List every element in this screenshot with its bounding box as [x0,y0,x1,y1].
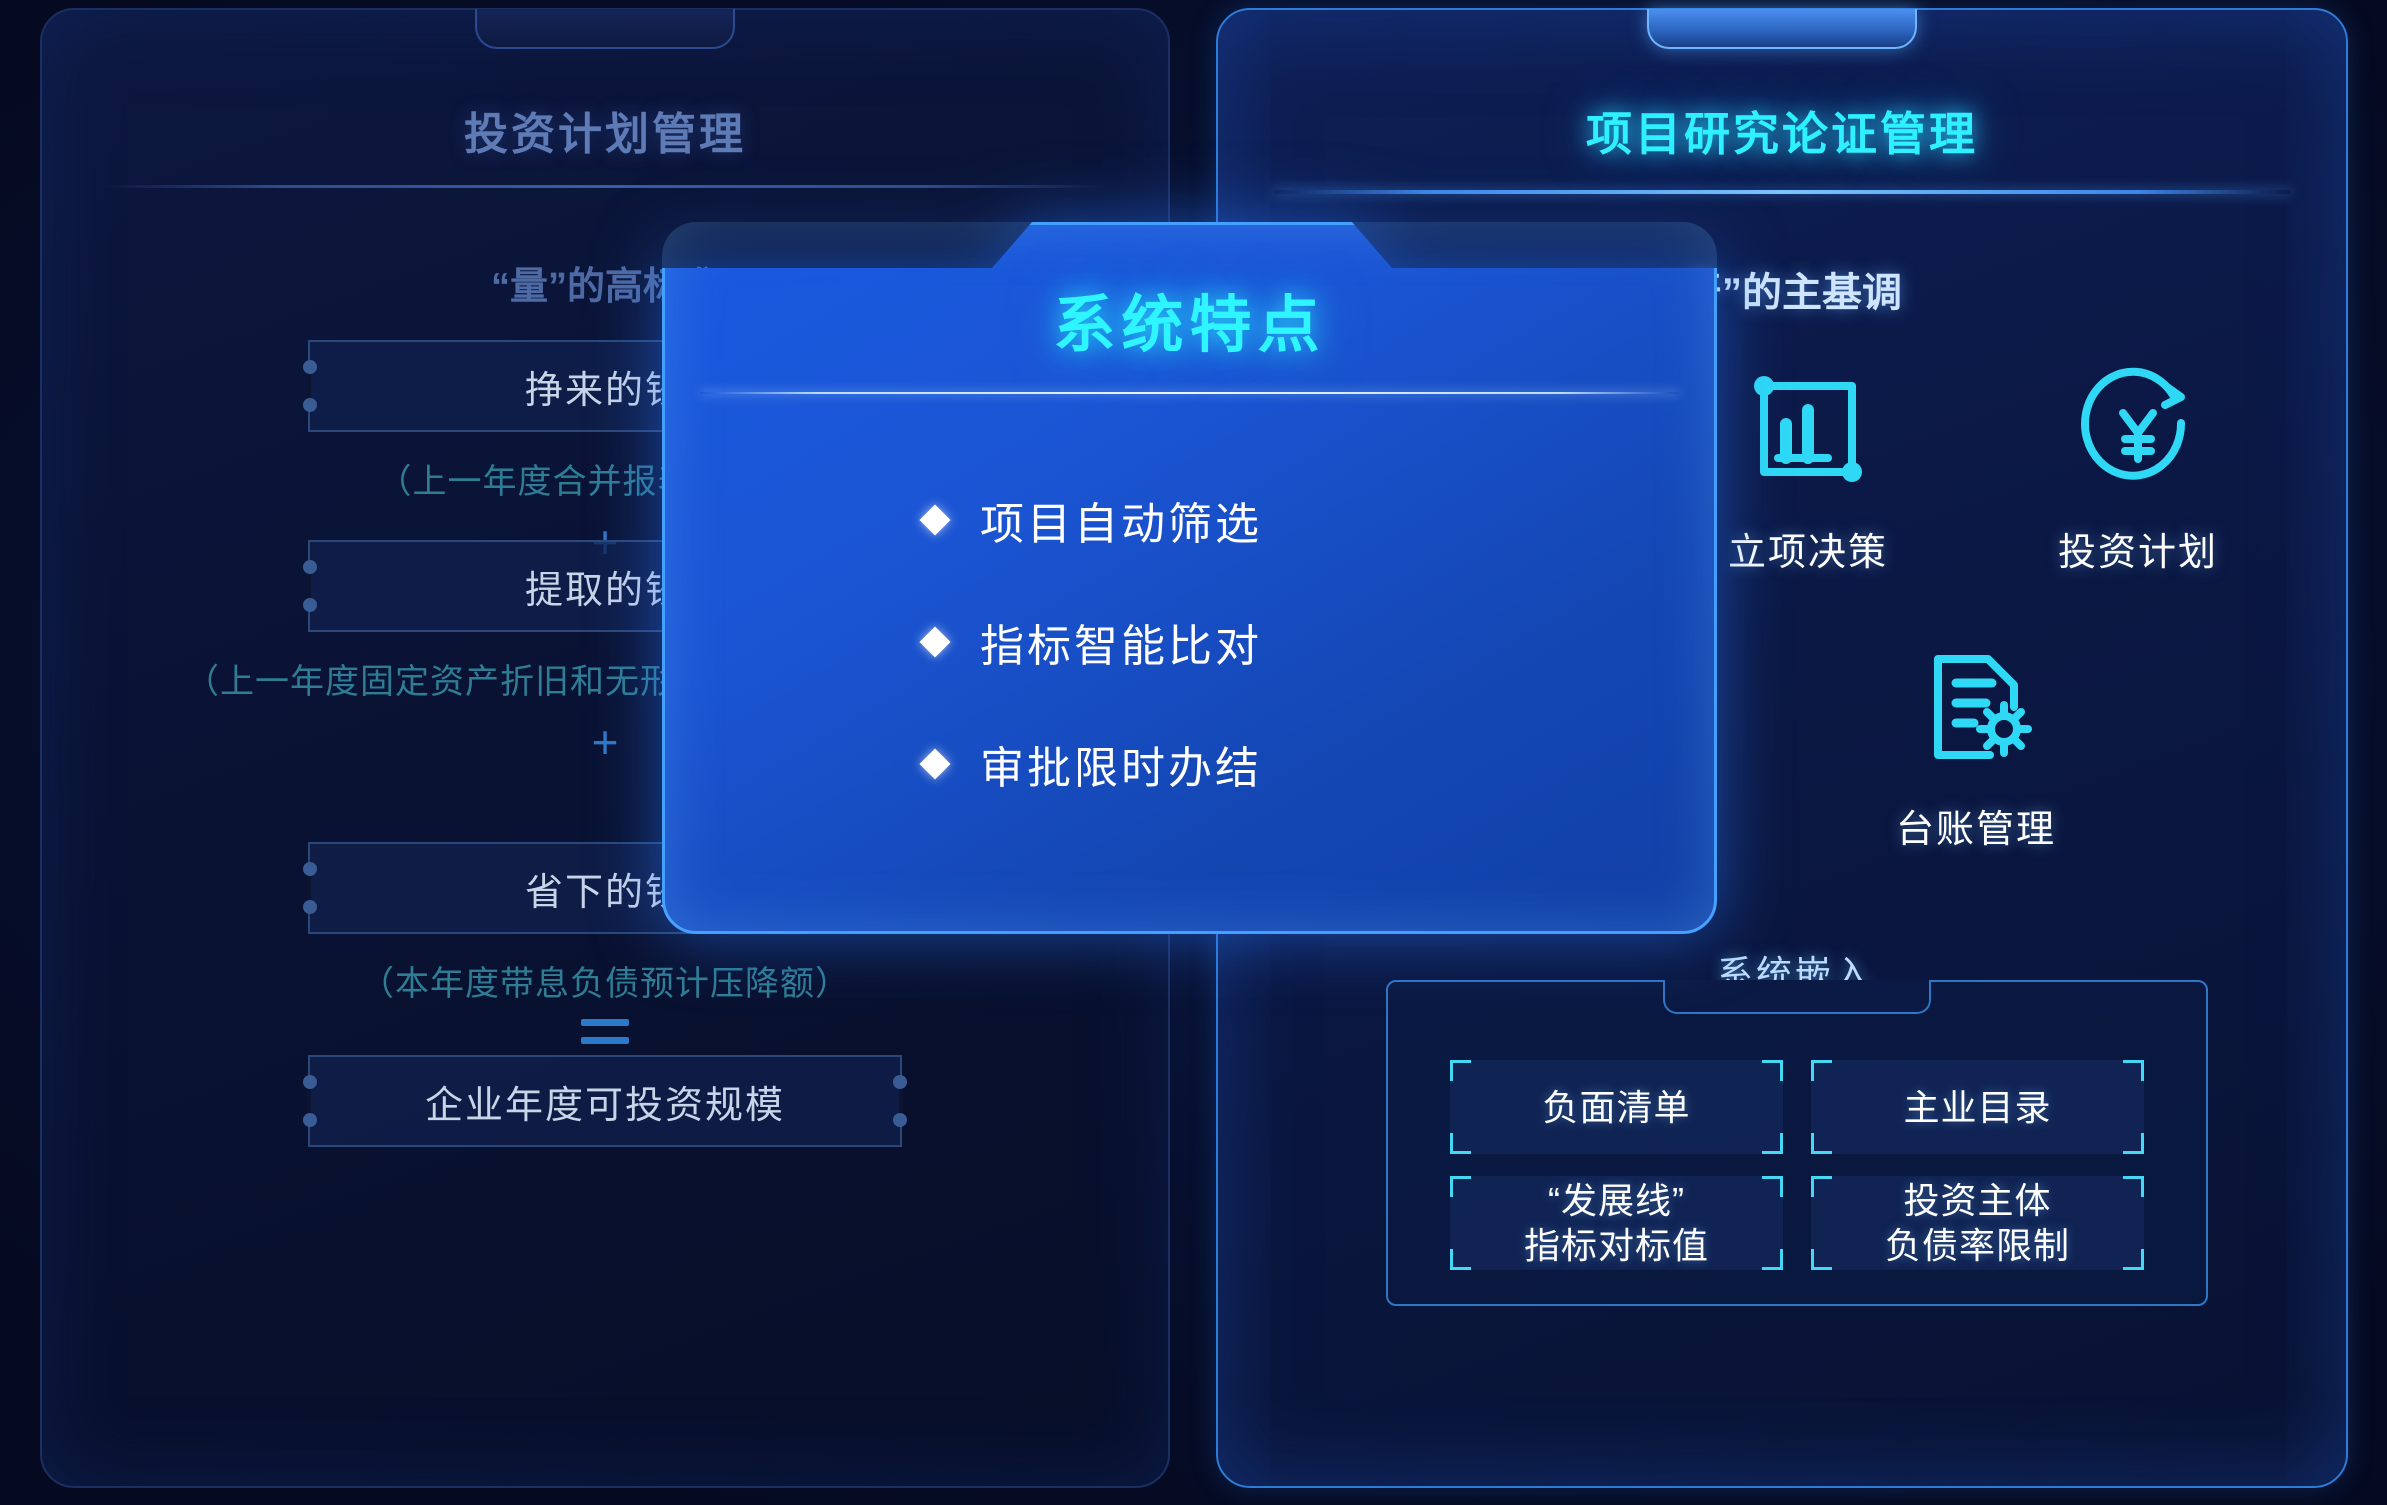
embed-cell-line1: 投资主体 [1885,1178,2070,1223]
flow-step-result: 企业年度可投资规模 [42,1055,1168,1147]
panel-tab-left [475,9,735,49]
embed-cell-line1: 负面清单 [1542,1085,1690,1130]
node-dot [303,598,317,612]
flow-box-label: 挣来的钱 [525,359,685,414]
node-dot [303,1113,317,1127]
diamond-bullet-icon [919,748,950,779]
embed-grid: 负面清单 主业目录 “发展线” 指标对标值 投资主体 负债率限制 [1450,1060,2144,1270]
yen-refresh-icon [2008,355,2268,505]
flow-operator-equals [42,1019,1168,1044]
bar-chart-icon [1678,355,1938,505]
system-features-card[interactable]: 系统特点 项目自动筛选 指标智能比对 审批限时办结 [662,222,1717,934]
right-panel-divider [1273,190,2291,194]
embed-notch [1663,980,1931,1014]
card-feature-item[interactable]: 审批限时办结 [924,732,1262,796]
panel-tab-right [1647,9,1917,49]
node-dot [303,360,317,374]
ledger-gear-icon [1846,632,2106,782]
left-panel-divider [102,185,1108,188]
node-dot [303,398,317,412]
card-divider [700,392,1679,394]
right-panel-title: 项目研究论证管理 [1218,98,2346,164]
node-dot [893,1113,907,1127]
embed-cell-line2: 负债率限制 [1885,1223,2070,1268]
card-title: 系统特点 [662,274,1717,364]
card-feature-list: 项目自动筛选 指标智能比对 审批限时办结 [884,488,1262,796]
flow-note: （本年度带息负债预计压降额） [42,956,1168,1005]
node-dot [303,900,317,914]
card-feature-item[interactable]: 指标智能比对 [924,610,1262,674]
embed-cell-line1: 主业目录 [1903,1085,2051,1130]
icon-label: 投资计划 [2008,521,2268,576]
icon-cell-ledger-management[interactable]: 台账管理 [1846,632,2106,853]
embed-section: 负面清单 主业目录 “发展线” 指标对标值 投资主体 负债率限制 [1386,980,2208,1306]
card-feature-label: 项目自动筛选 [980,488,1262,552]
icon-cell-project-approval[interactable]: 立项决策 [1678,355,1938,576]
flow-box-label: 企业年度可投资规模 [425,1074,785,1129]
card-feature-label: 指标智能比对 [980,610,1262,674]
node-dot [303,1075,317,1089]
embed-cell-main-business-catalog[interactable]: 主业目录 [1811,1060,2144,1154]
diamond-bullet-icon [919,504,950,535]
card-feature-item[interactable]: 项目自动筛选 [924,488,1262,552]
icon-label: 台账管理 [1846,798,2106,853]
flow-box-label: 省下的钱 [525,861,685,916]
embed-cell-negative-list[interactable]: 负面清单 [1450,1060,1783,1154]
left-panel-title: 投资计划管理 [42,98,1168,162]
embed-cell-development-line[interactable]: “发展线” 指标对标值 [1450,1176,1783,1270]
node-dot [303,560,317,574]
embed-cell-investor-debt-limit[interactable]: 投资主体 负债率限制 [1811,1176,2144,1270]
card-feature-label: 审批限时办结 [980,732,1262,796]
embed-cell-line2: 指标对标值 [1524,1223,1709,1268]
diamond-bullet-icon [919,626,950,657]
icon-label: 立项决策 [1678,521,1938,576]
flow-box-label: 提取的钱 [525,559,685,614]
node-dot [893,1075,907,1089]
node-dot [303,862,317,876]
flow-box-result[interactable]: 企业年度可投资规模 [308,1055,902,1147]
icon-cell-investment-plan[interactable]: 投资计划 [2008,355,2268,576]
embed-cell-line1: “发展线” [1524,1178,1709,1223]
